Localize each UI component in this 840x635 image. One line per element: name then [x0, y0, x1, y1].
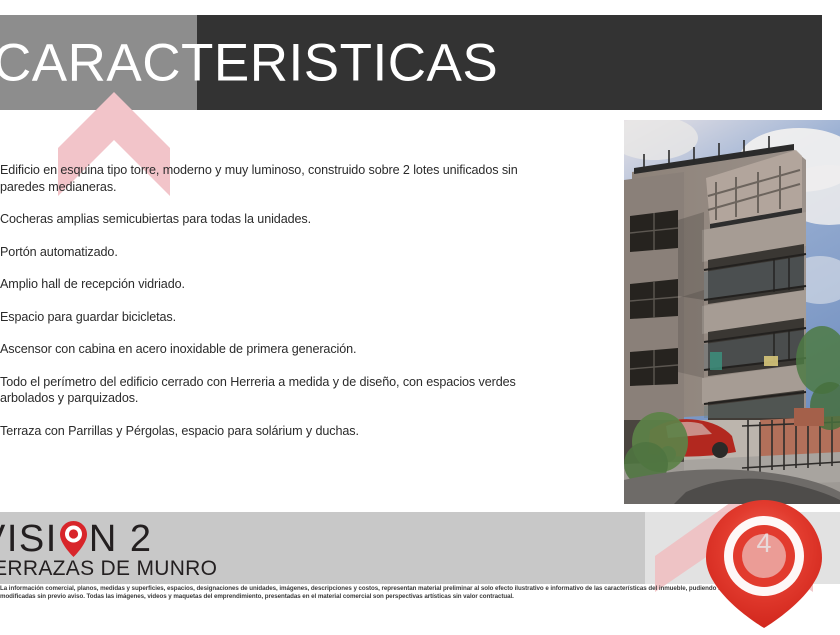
list-item: Espacio para guardar bicicletas.: [0, 309, 560, 326]
list-item: Cocheras amplias semicubiertas para toda…: [0, 211, 560, 228]
list-item: Portón automatizado.: [0, 244, 560, 261]
logo-text-after: N 2: [89, 518, 153, 560]
floor-number-pin-badge: 4: [702, 498, 826, 630]
map-pin-icon: [59, 520, 88, 558]
list-item: Todo el perímetro del edificio cerrado c…: [0, 374, 560, 407]
list-item: Edificio en esquina tipo torre, moderno …: [0, 162, 560, 195]
page-title: CARACTERISTICAS: [0, 36, 498, 89]
badge-number: 4: [702, 528, 826, 559]
list-item: Terraza con Parrillas y Pérgolas, espaci…: [0, 423, 560, 440]
logo-wordmark: VISIN 2: [0, 519, 217, 559]
page-header: CARACTERISTICAS: [0, 15, 840, 110]
logo-tagline: TERRAZAS DE MUNRO: [0, 557, 217, 580]
list-item: Ascensor con cabina en acero inoxidable …: [0, 341, 560, 358]
list-item: Amplio hall de recepción vidriado.: [0, 276, 560, 293]
building-render-photo: [624, 120, 840, 504]
brand-logo: VISIN 2 TERRAZAS DE MUNRO: [0, 519, 217, 580]
features-list: Edificio en esquina tipo torre, moderno …: [0, 162, 560, 439]
logo-text-before: VISI: [0, 518, 58, 560]
